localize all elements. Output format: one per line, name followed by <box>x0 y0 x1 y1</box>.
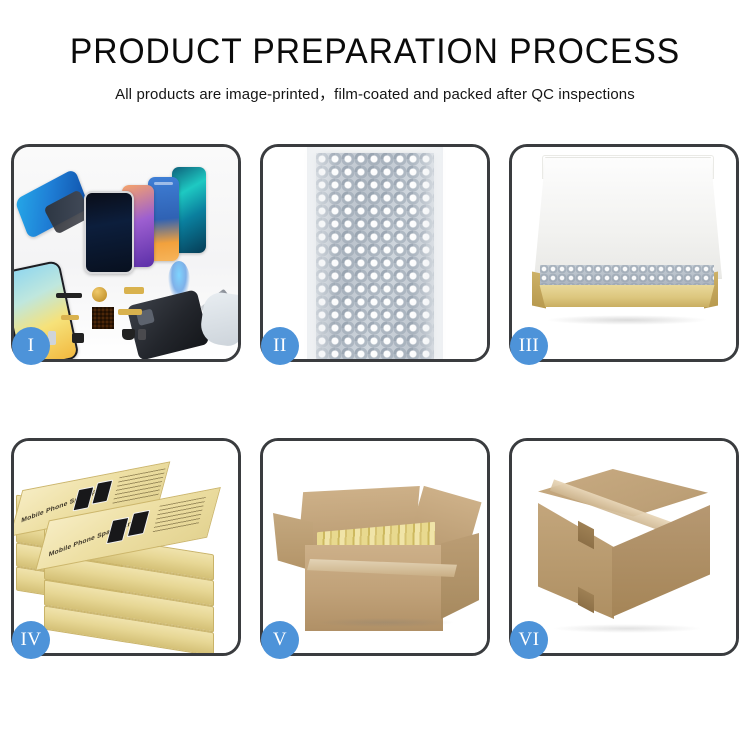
flex-cable-icon <box>124 287 144 294</box>
box-lid-icon <box>534 157 722 279</box>
process-step-panel-1[interactable]: I <box>11 144 241 362</box>
step-badge-4: IV <box>12 621 50 659</box>
chip-icon <box>138 329 146 340</box>
box-stack-image: Mobile Phone Spare Parts Mobile Phone Sp… <box>14 441 238 653</box>
front-glass-icon <box>84 191 134 274</box>
process-step-panel-2[interactable]: II <box>260 144 490 362</box>
open-inner-box-scene <box>512 147 736 359</box>
step-badge-2: II <box>261 327 299 365</box>
box-label-spec-lines <box>152 497 205 533</box>
vibration-motor-icon <box>72 333 84 343</box>
open-carton-scene <box>263 441 487 653</box>
inner-box-image <box>512 147 736 359</box>
box-label-phone-image <box>106 517 130 545</box>
step-badge-6: VI <box>510 621 548 659</box>
earpiece-bar-icon <box>56 293 82 298</box>
box-label-phone-image <box>91 479 113 504</box>
carton-left-face-icon <box>538 503 614 619</box>
process-step-panel-5[interactable]: V <box>260 438 490 656</box>
connector-grid-icon <box>92 307 114 329</box>
step-badge-3: III <box>510 327 548 365</box>
carton-shadow <box>315 618 455 627</box>
box-shadow <box>546 315 708 325</box>
carton-shadow <box>552 624 702 633</box>
bubble-wrapped-contents-icon <box>540 265 714 287</box>
step-badge-1: I <box>12 327 50 365</box>
box-front-panel-icon <box>534 285 720 307</box>
phone-back-shell-icon <box>126 289 209 359</box>
step-badge-5: V <box>261 621 299 659</box>
page-subtitle: All products are image-printed，film-coat… <box>6 82 745 104</box>
phone-notch-icon <box>154 182 173 185</box>
bubble-wrap-image <box>263 147 487 359</box>
speaker-module-icon <box>92 287 107 302</box>
box-label-phone-image <box>127 510 151 538</box>
sealed-carton-scene <box>512 441 736 653</box>
box-label-phone-image <box>72 486 94 511</box>
flex-cable-icon <box>61 315 79 320</box>
box-stack-scene: Mobile Phone Spare Parts Mobile Phone Sp… <box>14 441 238 653</box>
process-step-panel-4[interactable]: Mobile Phone Spare Parts Mobile Phone Sp… <box>11 438 241 656</box>
flex-cable-icon <box>118 309 142 315</box>
phone-parts-scene <box>14 147 238 359</box>
process-step-grid: I II III <box>11 144 739 656</box>
process-step-panel-6[interactable]: VI <box>509 438 739 656</box>
camera-module-icon <box>122 329 135 340</box>
bubble-wrap-scene <box>263 147 487 359</box>
page-title: PRODUCT PREPARATION PROCESS <box>15 34 735 71</box>
page-header: PRODUCT PREPARATION PROCESS All products… <box>0 0 750 104</box>
sealed-carton-image <box>512 441 736 653</box>
bubble-wrap-sheet-icon <box>316 153 434 359</box>
phone-parts-image <box>14 147 238 359</box>
process-step-panel-3[interactable]: III <box>509 144 739 362</box>
carton-filling-image <box>263 441 487 653</box>
